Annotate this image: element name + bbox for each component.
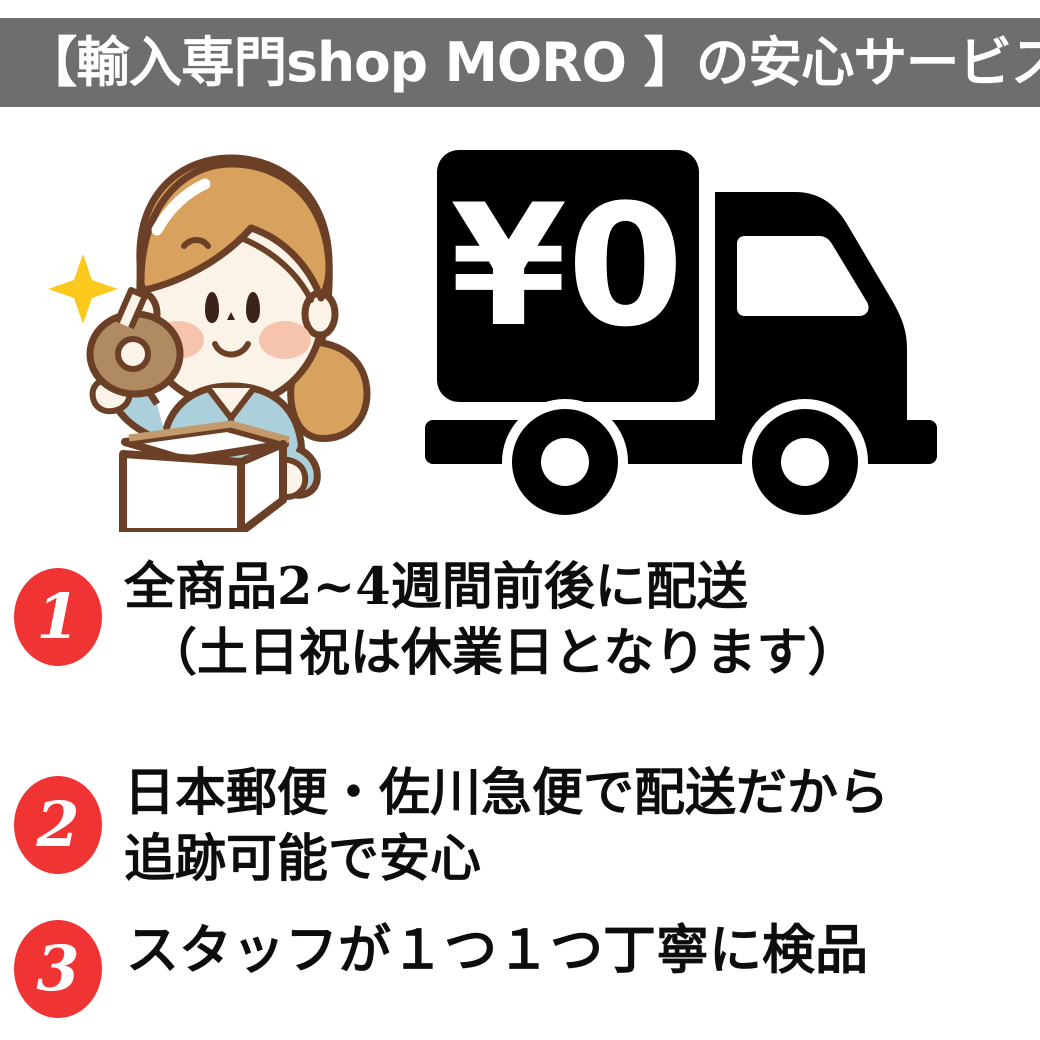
header-bar: 【輸入専門shop MORO 】の安心サービス [0, 18, 1040, 107]
benefit-text-3: スタッフが１つ１つ丁寧に検品 [102, 916, 1040, 985]
benefit-line-1: 全商品2~4週間前後に配送 [124, 554, 1040, 620]
benefit-text-2: 日本郵便・佐川急便で配送だから 追跡可能で安心 [102, 760, 1040, 893]
benefit-line-2: 追跡可能で安心 [124, 826, 1040, 892]
benefit-text-1: 全商品2~4週間前後に配送 （土日祝は休業日となります） [102, 554, 1040, 687]
badge-number: 1 [36, 586, 79, 648]
benefit-badge-1: 1 [14, 568, 102, 666]
woman-packing-box-illustration [45, 142, 395, 532]
page-title: 【輸入専門shop MORO 】の安心サービス [0, 36, 1040, 90]
badge-number: 3 [36, 938, 79, 1000]
benefit-badge-3: 3 [14, 920, 102, 1018]
benefit-item-2: 2 日本郵便・佐川急便で配送だから 追跡可能で安心 [0, 760, 1040, 893]
benefit-item-1: 1 全商品2~4週間前後に配送 （土日祝は休業日となります） [0, 554, 1040, 687]
promo-banner: 【輸入専門shop MORO 】の安心サービス [0, 0, 1040, 1040]
benefit-item-3: 3 スタッフが１つ１つ丁寧に検品 [0, 916, 1040, 1018]
benefit-line-1: 日本郵便・佐川急便で配送だから [124, 760, 1040, 826]
badge-number: 2 [36, 794, 79, 856]
benefit-line-2: （土日祝は休業日となります） [124, 620, 1040, 686]
benefit-badge-2: 2 [14, 776, 102, 874]
benefit-line-1: スタッフが１つ１つ丁寧に検品 [126, 916, 1040, 985]
illustration-band: ¥0 [0, 122, 1040, 534]
sparkle-icon [48, 254, 118, 324]
free-shipping-truck-icon: ¥0 [415, 132, 1015, 522]
free-shipping-label: ¥0 [450, 168, 684, 364]
benefit-list: 1 全商品2~4週間前後に配送 （土日祝は休業日となります） 2 日本郵便・佐川… [0, 548, 1040, 1040]
